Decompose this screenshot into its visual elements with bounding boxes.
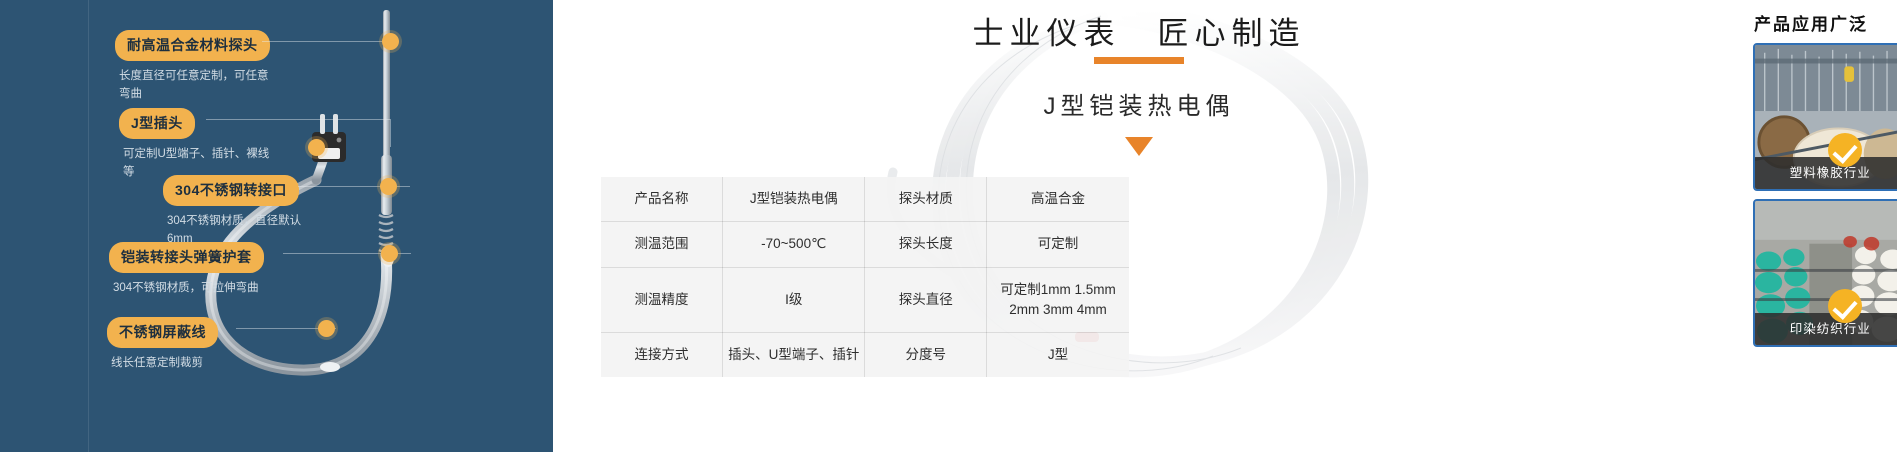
spec-key: 测温精度 xyxy=(601,267,722,333)
spec-key: 分度号 xyxy=(865,333,986,378)
callout-probe-material: 耐高温合金材料探头 长度直径可任意定制，可任意弯曲 xyxy=(115,30,275,104)
spec-key: 连接方式 xyxy=(601,333,722,378)
specification-table: 产品名称 J型铠装热电偶 探头材质 高温合金 测温范围 -70~500℃ 探头长… xyxy=(601,177,1129,377)
spec-value: J型铠装热电偶 xyxy=(722,177,865,222)
spec-value: J型 xyxy=(986,333,1129,378)
spec-panel: 士业仪表 匠心制造 J型铠装热电偶 产品名称 J型铠装热电偶 探头材质 高温合金… xyxy=(553,0,1725,452)
spec-key: 探头材质 xyxy=(865,177,986,222)
center-title: 士业仪表 匠心制造 xyxy=(553,8,1725,53)
table-row: 测温范围 -70~500℃ 探头长度 可定制 xyxy=(601,222,1129,267)
callout-desc: 304不锈钢材质，可拉伸弯曲 xyxy=(109,280,264,298)
down-arrow-icon xyxy=(1125,137,1153,156)
spec-key: 探头长度 xyxy=(865,222,986,267)
anchor-dot-3 xyxy=(380,178,397,195)
spec-key: 探头直径 xyxy=(865,267,986,333)
spec-value: I级 xyxy=(722,267,865,333)
title-underline xyxy=(1094,57,1184,64)
callout-desc: 长度直径可任意定制，可任意弯曲 xyxy=(115,68,275,104)
table-row: 产品名称 J型铠装热电偶 探头材质 高温合金 xyxy=(601,177,1129,222)
callout-title: J型插头 xyxy=(119,108,195,139)
callout-shield-wire: 不锈钢屏蔽线 线长任意定制裁剪 xyxy=(107,317,218,373)
callout-title: 耐高温合金材料探头 xyxy=(115,30,270,61)
applications-title: 产品应用广泛 xyxy=(1725,10,1897,35)
spec-value: 高温合金 xyxy=(986,177,1129,222)
application-card[interactable]: 印染纺织行业 xyxy=(1753,199,1897,347)
callout-title: 不锈钢屏蔽线 xyxy=(107,317,218,348)
application-caption: 印染纺织行业 xyxy=(1755,313,1897,345)
spec-value: -70~500℃ xyxy=(722,222,865,267)
spec-value: 插头、U型端子、插针 xyxy=(722,333,865,378)
callout-spring-sheath: 铠装转接头弹簧护套 304不锈钢材质，可拉伸弯曲 xyxy=(109,242,264,298)
leader-line-1 xyxy=(262,41,390,42)
leader-line-2 xyxy=(206,119,390,120)
spec-key: 测温范围 xyxy=(601,222,722,267)
spec-value: 可定制1mm 1.5mm 2mm 3mm 4mm xyxy=(986,267,1129,333)
callout-desc: 线长任意定制裁剪 xyxy=(107,355,218,373)
table-row: 测温精度 I级 探头直径 可定制1mm 1.5mm 2mm 3mm 4mm xyxy=(601,267,1129,333)
features-panel: 耐高温合金材料探头 长度直径可任意定制，可任意弯曲 J型插头 可定制U型端子、插… xyxy=(0,0,553,452)
product-detail-banner: 耐高温合金材料探头 长度直径可任意定制，可任意弯曲 J型插头 可定制U型端子、插… xyxy=(0,0,1897,452)
applications-grid: 塑料橡胶行业 xyxy=(1753,43,1897,347)
callout-title: 304不锈钢转接口 xyxy=(163,175,299,206)
anchor-dot-5 xyxy=(318,320,335,337)
anchor-dot-4 xyxy=(381,245,398,262)
center-subtitle: J型铠装热电偶 xyxy=(553,86,1725,121)
table-row: 连接方式 插头、U型端子、插针 分度号 J型 xyxy=(601,333,1129,378)
check-icon xyxy=(1828,133,1862,167)
check-icon xyxy=(1828,289,1862,323)
application-card[interactable]: 塑料橡胶行业 xyxy=(1753,43,1897,191)
spec-value: 可定制 xyxy=(986,222,1129,267)
leader-line-2b xyxy=(390,119,391,147)
anchor-dot-1 xyxy=(382,33,399,50)
application-caption: 塑料橡胶行业 xyxy=(1755,157,1897,189)
applications-panel: 产品应用广泛 xyxy=(1725,0,1897,452)
callout-title: 铠装转接头弹簧护套 xyxy=(109,242,264,273)
anchor-dot-2 xyxy=(308,139,325,156)
spec-key: 产品名称 xyxy=(601,177,722,222)
